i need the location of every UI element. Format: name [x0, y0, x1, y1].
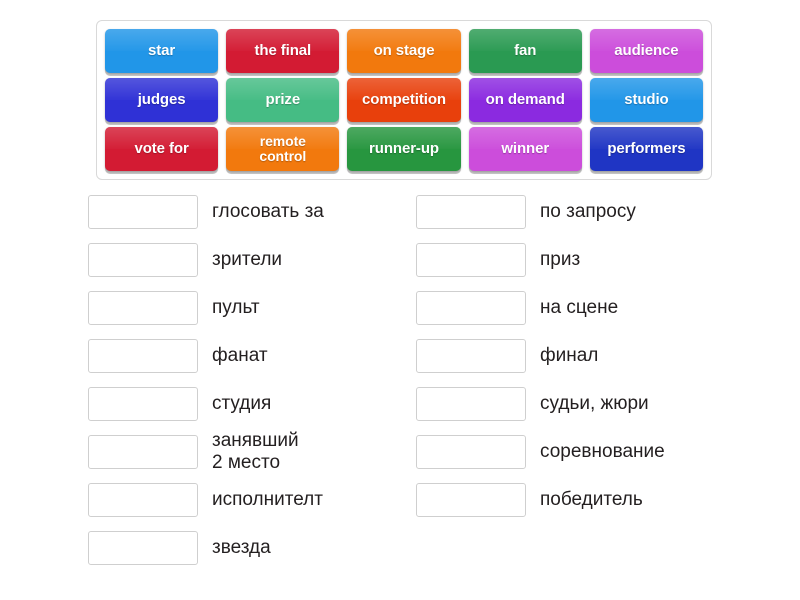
answer-label: исполнителт [212, 489, 323, 511]
tile-row: judges prize competition on demand studi… [105, 78, 703, 122]
tile-remote-control[interactable]: remote control [226, 127, 339, 171]
answer-area: глосовать за зрители пульт фанат студия … [88, 188, 728, 572]
answer-column-left: глосовать за зрители пульт фанат студия … [88, 188, 380, 572]
answer-row: занявший 2 место [88, 428, 380, 476]
drop-zone[interactable] [88, 435, 198, 469]
drop-zone[interactable] [88, 483, 198, 517]
answer-row: студия [88, 380, 380, 428]
answer-row: глосовать за [88, 188, 380, 236]
tile-on-stage[interactable]: on stage [347, 29, 460, 73]
tile-row: star the final on stage fan audience [105, 29, 703, 73]
tile-on-demand[interactable]: on demand [469, 78, 582, 122]
answer-label: на сцене [540, 297, 618, 319]
answer-row: звезда [88, 524, 380, 572]
answer-row: соревнование [416, 428, 708, 476]
tile-the-final[interactable]: the final [226, 29, 339, 73]
answer-column-right: по запросу приз на сцене финал судьи, жю… [416, 188, 708, 572]
drop-zone[interactable] [416, 243, 526, 277]
drop-zone[interactable] [88, 339, 198, 373]
answer-row: исполнителт [88, 476, 380, 524]
drop-zone[interactable] [416, 291, 526, 325]
answer-label: победитель [540, 489, 643, 511]
drop-zone[interactable] [416, 483, 526, 517]
answer-label: приз [540, 249, 580, 271]
answer-row: по запросу [416, 188, 708, 236]
answer-label: студия [212, 393, 271, 415]
answer-row: зрители [88, 236, 380, 284]
tile-label: audience [614, 43, 678, 59]
tile-label: judges [138, 92, 186, 108]
answer-label: глосовать за [212, 201, 324, 223]
tile-prize[interactable]: prize [226, 78, 339, 122]
answer-label: пульт [212, 297, 260, 319]
drop-zone[interactable] [416, 339, 526, 373]
drop-zone[interactable] [88, 387, 198, 421]
answer-row: победитель [416, 476, 708, 524]
tile-label: fan [514, 43, 536, 59]
answer-row: фанат [88, 332, 380, 380]
answer-label: судьи, жюри [540, 393, 649, 415]
answer-row: пульт [88, 284, 380, 332]
tile-performers[interactable]: performers [590, 127, 703, 171]
answer-label: финал [540, 345, 598, 367]
answer-label: зрители [212, 249, 282, 271]
tile-label: runner-up [369, 141, 439, 157]
drop-zone[interactable] [88, 195, 198, 229]
tile-label: on stage [374, 43, 435, 59]
answer-row: приз [416, 236, 708, 284]
answer-row: на сцене [416, 284, 708, 332]
tile-vote-for[interactable]: vote for [105, 127, 218, 171]
tile-label: the final [255, 43, 312, 59]
tile-fan[interactable]: fan [469, 29, 582, 73]
drop-zone[interactable] [88, 291, 198, 325]
tile-bank: star the final on stage fan audience jud… [96, 20, 712, 180]
tile-competition[interactable]: competition [347, 78, 460, 122]
tile-label: remote control [259, 134, 306, 163]
drop-zone[interactable] [416, 195, 526, 229]
tile-label: prize [266, 92, 301, 108]
tile-label: performers [607, 141, 685, 157]
answer-label: звезда [212, 537, 271, 559]
tile-runner-up[interactable]: runner-up [347, 127, 460, 171]
tile-studio[interactable]: studio [590, 78, 703, 122]
drop-zone[interactable] [88, 243, 198, 277]
tile-winner[interactable]: winner [469, 127, 582, 171]
tile-label: winner [501, 141, 549, 157]
tile-row: vote for remote control runner-up winner… [105, 127, 703, 171]
answer-row: финал [416, 332, 708, 380]
tile-label: star [148, 43, 175, 59]
drop-zone[interactable] [416, 435, 526, 469]
tile-star[interactable]: star [105, 29, 218, 73]
answer-label: по запросу [540, 201, 636, 223]
drop-zone[interactable] [416, 387, 526, 421]
tile-label: on demand [486, 92, 565, 108]
answer-label: соревнование [540, 441, 665, 463]
tile-judges[interactable]: judges [105, 78, 218, 122]
tile-label: competition [362, 92, 446, 108]
tile-audience[interactable]: audience [590, 29, 703, 73]
answer-row: судьи, жюри [416, 380, 708, 428]
answer-label: фанат [212, 345, 268, 367]
tile-label: vote for [134, 141, 188, 157]
drop-zone[interactable] [88, 531, 198, 565]
answer-label: занявший 2 место [212, 430, 299, 475]
tile-label: studio [624, 92, 668, 108]
